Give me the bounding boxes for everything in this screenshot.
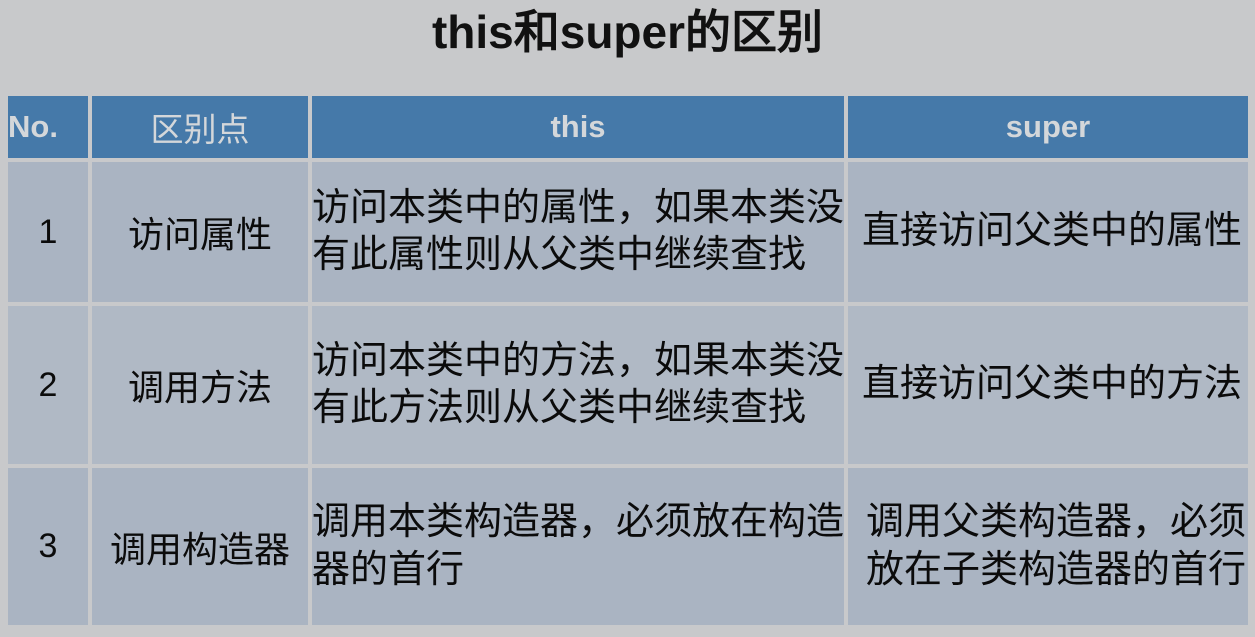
table-header: No. 区别点 this super bbox=[8, 96, 1248, 158]
table-row: 1 访问属性 访问本类中的属性，如果本类没有此属性则从父类中继续查找 直接访问父… bbox=[8, 162, 1248, 302]
cell-super: 直接访问父类中的方法 bbox=[848, 306, 1248, 464]
table-body: 1 访问属性 访问本类中的属性，如果本类没有此属性则从父类中继续查找 直接访问父… bbox=[8, 162, 1248, 625]
table-header-row: No. 区别点 this super bbox=[8, 96, 1248, 158]
column-header-this: this bbox=[312, 96, 844, 158]
cell-this: 访问本类中的属性，如果本类没有此属性则从父类中继续查找 bbox=[312, 162, 844, 302]
cell-no: 1 bbox=[8, 162, 88, 302]
page-title: this和super的区别 bbox=[0, 2, 1255, 62]
cell-super: 直接访问父类中的属性 bbox=[848, 162, 1248, 302]
cell-point: 调用方法 bbox=[92, 306, 308, 464]
column-header-super: super bbox=[848, 96, 1248, 158]
column-header-no: No. bbox=[8, 96, 88, 158]
cell-point: 调用构造器 bbox=[92, 468, 308, 625]
cell-no: 3 bbox=[8, 468, 88, 625]
column-header-point: 区别点 bbox=[92, 96, 308, 158]
table-row: 3 调用构造器 调用本类构造器，必须放在构造器的首行 调用父类构造器，必须放在子… bbox=[8, 468, 1248, 625]
cell-no: 2 bbox=[8, 306, 88, 464]
table-row: 2 调用方法 访问本类中的方法，如果本类没有此方法则从父类中继续查找 直接访问父… bbox=[8, 306, 1248, 464]
cell-this: 访问本类中的方法，如果本类没有此方法则从父类中继续查找 bbox=[312, 306, 844, 464]
slide: this和super的区别 No. 区别点 this super 1 bbox=[0, 0, 1255, 637]
cell-super: 调用父类构造器，必须放在子类构造器的首行 bbox=[848, 468, 1248, 625]
cell-this: 调用本类构造器，必须放在构造器的首行 bbox=[312, 468, 844, 625]
cell-point: 访问属性 bbox=[92, 162, 308, 302]
comparison-table-container: No. 区别点 this super 1 访问属性 访问本类中的属性，如果本类没… bbox=[8, 96, 1248, 631]
comparison-table: No. 区别点 this super 1 访问属性 访问本类中的属性，如果本类没… bbox=[4, 92, 1252, 629]
